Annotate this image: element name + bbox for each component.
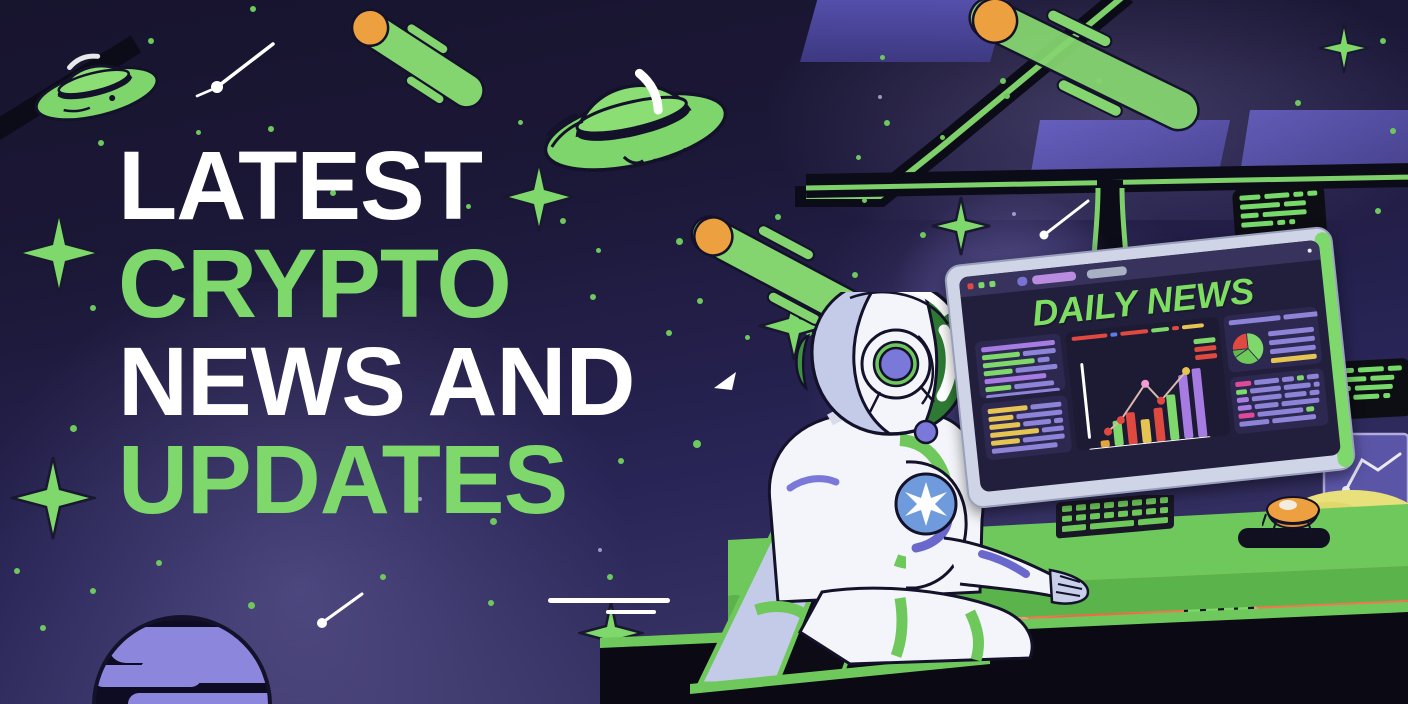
legend-bar [1151, 327, 1169, 333]
headline-line-1: LATEST [118, 140, 738, 232]
legend-bar [1120, 329, 1148, 336]
data-bar [1023, 419, 1051, 427]
browser-dot-max[interactable] [989, 281, 996, 288]
data-bar [1023, 348, 1056, 356]
code-segment [1383, 393, 1390, 398]
chart-bar [1191, 368, 1207, 437]
legend-bar [1271, 354, 1317, 364]
data-bar [1309, 389, 1319, 395]
chart-bar [1140, 419, 1151, 443]
data-bar [1054, 417, 1064, 423]
browser-dot-min[interactable] [978, 282, 985, 289]
code-segment [1388, 365, 1402, 371]
browser-tab-1[interactable] [1017, 276, 1028, 286]
data-bar [1272, 414, 1316, 424]
code-segment [1370, 375, 1394, 381]
data-bar [1284, 382, 1311, 390]
code-segment [1240, 202, 1280, 210]
data-bar [985, 385, 1011, 393]
browser-dot-close[interactable] [967, 283, 974, 290]
code-segment [1353, 393, 1379, 399]
code-segment [1293, 191, 1303, 197]
code-segment [1241, 212, 1259, 218]
data-bar [1306, 373, 1319, 379]
code-segment [1277, 220, 1285, 226]
panel-right-bottom[interactable] [1230, 368, 1329, 435]
data-bar [1306, 406, 1314, 412]
chart-bar [1153, 407, 1165, 441]
panel-right-top[interactable] [1223, 306, 1322, 373]
data-bar [1239, 419, 1269, 427]
headline-line-2: CRYPTO [118, 238, 738, 330]
orange-mug[interactable] [1262, 488, 1324, 538]
data-bar [1236, 389, 1247, 395]
chart-bar [1100, 440, 1110, 448]
code-segment [1289, 219, 1295, 224]
data-bar [1238, 405, 1252, 411]
chart-bar [1112, 420, 1124, 446]
banner-scene: LATEST CRYPTO NEWS AND UPDATES [0, 0, 1408, 704]
data-bar [1313, 381, 1320, 387]
code-segment [1239, 194, 1261, 200]
striped-planet [92, 615, 272, 704]
data-bar [1041, 425, 1064, 432]
data-bar [988, 415, 1013, 423]
data-bar [989, 422, 1021, 430]
legend-bar [1172, 326, 1179, 331]
monitor-screen[interactable]: DAILY NEWS [959, 240, 1342, 493]
legend-bar [1269, 336, 1315, 346]
code-segment [1284, 200, 1306, 207]
code-segment [1262, 209, 1306, 217]
ufo-left[interactable] [24, 28, 164, 138]
code-segment [1265, 192, 1290, 199]
browser-tab-2[interactable] [1032, 271, 1077, 285]
shooting-star-icon [1030, 198, 1094, 246]
panel-chart[interactable] [1065, 317, 1231, 451]
data-bar [1283, 310, 1322, 320]
code-segment [1358, 366, 1384, 372]
data-bar [1237, 397, 1249, 403]
data-bar [1284, 391, 1306, 398]
data-bar [1297, 375, 1304, 381]
panel-right [1223, 306, 1329, 434]
data-bar [1254, 378, 1279, 386]
chart-svg [1067, 335, 1225, 451]
code-segment [1355, 384, 1393, 391]
panel-left-top[interactable] [974, 333, 1065, 399]
data-bar [1250, 385, 1282, 393]
legend-bar [1270, 345, 1316, 355]
legend-bar [1071, 333, 1107, 341]
legend-bar [1182, 323, 1204, 329]
data-bar [991, 438, 1020, 446]
panel-left-bottom[interactable] [981, 395, 1072, 461]
shooting-star-icon [195, 40, 290, 100]
data-bar [1238, 412, 1254, 419]
data-bar [1229, 315, 1281, 325]
data-bar [983, 368, 1012, 376]
browser-tab-3[interactable] [1086, 265, 1127, 278]
data-bar [1235, 381, 1251, 388]
code-segment [1307, 190, 1317, 196]
code-line [1241, 217, 1319, 227]
comet-topleft [322, 0, 502, 120]
data-bar [1254, 402, 1278, 409]
code-segment [1241, 220, 1273, 227]
monitor[interactable]: DAILY NEWS [943, 225, 1356, 509]
headline-line-3: NEWS AND [118, 336, 738, 428]
browser-menu-dot[interactable] [1307, 248, 1311, 252]
data-bar [1252, 393, 1282, 401]
chart-bar [1178, 374, 1194, 438]
data-bar [1030, 401, 1061, 409]
data-bar [1282, 376, 1295, 382]
pie-slice [1231, 333, 1248, 350]
legend-bar [1268, 327, 1314, 337]
panel-left [974, 333, 1072, 460]
legend-bar [1110, 332, 1117, 337]
pie-chart [1230, 328, 1267, 369]
chart-bar [1166, 394, 1180, 440]
data-bar [1037, 356, 1049, 362]
shooting-star-icon [300, 590, 370, 638]
chart-bar [1126, 412, 1138, 445]
